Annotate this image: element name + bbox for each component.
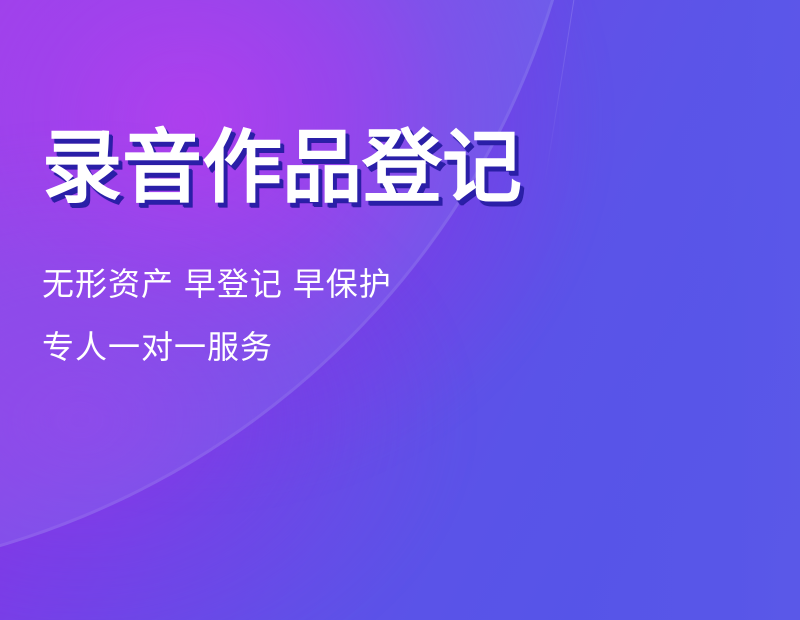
banner-subtitle-line-1: 无形资产 早登记 早保护 [42,268,392,300]
banner-text-block: 录音作品登记 无形资产 早登记 早保护 专人一对一服务 [42,0,642,620]
banner-subtitle-line-2: 专人一对一服务 [42,331,273,363]
promo-banner: 录音作品登记 无形资产 早登记 早保护 专人一对一服务 [0,0,800,620]
banner-headline: 录音作品登记 [42,128,522,208]
